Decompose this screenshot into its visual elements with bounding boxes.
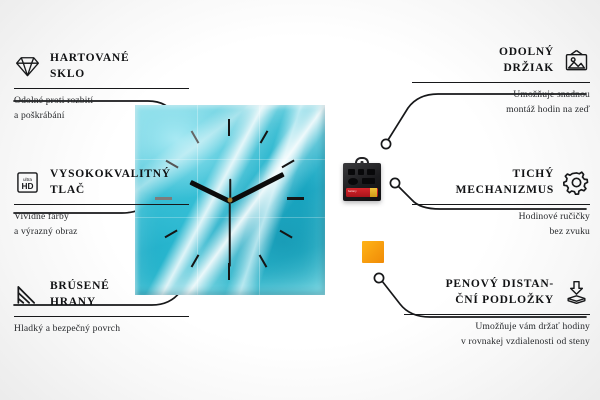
feature-title-line: ČNÍ PODLOŽKY <box>446 292 554 308</box>
feature-block-silent-mechanism: TICHÝ MECHANIZMUS Hodinové ručičky bez z… <box>412 166 590 239</box>
feature-subtitle-line: v rovnakej vzdialenosti od steny <box>404 335 590 349</box>
gear-icon <box>563 170 590 195</box>
feature-subtitle: Umožňuje vám držať hodiny v rovnakej vzd… <box>404 320 590 349</box>
feature-subtitle: Vivídne farby a výrazný obraz <box>14 210 189 239</box>
clock-hour-hand <box>189 180 231 204</box>
feature-title: ODOLNÝ DRŽIAK <box>499 44 554 77</box>
ultra-hd-icon: ultra HD <box>14 170 41 195</box>
arrow-down-stack-icon <box>563 280 590 305</box>
diamond-icon <box>14 54 41 79</box>
feature-title-line: SKLO <box>50 66 129 82</box>
feature-block-tempered-glass: HARTOVANÉ SKLO Odolné proti rozbití a po… <box>14 50 189 123</box>
clock-hand-pivot <box>228 198 233 203</box>
feature-divider <box>412 82 590 84</box>
clock-tick <box>228 119 230 136</box>
feature-title-line: HRANY <box>50 294 110 310</box>
feature-subtitle-line: a výrazný obraz <box>14 225 189 239</box>
clock-tick <box>191 254 200 267</box>
infographic-stage: battery HARTOVANÉ SKLO Odolné pro <box>0 0 600 400</box>
ground-edges-icon <box>14 282 41 307</box>
feature-header: HARTOVANÉ SKLO <box>14 50 189 83</box>
feature-subtitle-line: bez zvuku <box>412 225 590 239</box>
feature-header: PENOVÝ DISTAN- ČNÍ PODLOŽKY <box>404 276 590 309</box>
clock-tick <box>259 254 268 267</box>
feature-subtitle-line: a poškrábání <box>14 109 189 123</box>
feature-divider <box>14 88 189 90</box>
mechanism-detail <box>362 178 375 184</box>
feature-title-line: TICHÝ <box>456 166 554 182</box>
feature-subtitle: Hladký a bezpečný povrch <box>14 322 189 336</box>
feature-divider <box>14 204 189 206</box>
svg-text:HD: HD <box>21 181 33 191</box>
mechanism-body: battery <box>343 163 381 201</box>
mechanism-detail <box>348 169 355 175</box>
battery-label: battery <box>348 190 357 193</box>
feature-title-line: PENOVÝ DISTAN- <box>446 276 554 292</box>
clock-tick <box>279 230 292 239</box>
feature-title-line: BRÚSENÉ <box>50 278 110 294</box>
feature-title-line: VYSOKOKVALITNÝ <box>50 166 171 182</box>
feature-block-durable-holder: ODOLNÝ DRŽIAK Umožňuje snadnou montáž ho… <box>412 44 590 117</box>
clock-tick <box>191 130 200 143</box>
feature-title-line: ODOLNÝ <box>499 44 554 60</box>
feature-header: BRÚSENÉ HRANY <box>14 278 189 311</box>
feature-subtitle-line: Odolné proti rozbití <box>14 94 189 108</box>
mechanism-detail <box>367 169 375 175</box>
feature-block-foam-spacers: PENOVÝ DISTAN- ČNÍ PODLOŽKY Umožňuje vám… <box>404 276 590 349</box>
feature-title: TICHÝ MECHANIZMUS <box>456 166 554 199</box>
clock-minute-hand <box>229 172 285 203</box>
clock-second-hand <box>229 201 231 267</box>
mechanism-battery: battery <box>346 188 378 197</box>
clock-tick <box>287 197 304 200</box>
feature-title: HARTOVANÉ SKLO <box>50 50 129 83</box>
mechanism-detail <box>358 169 364 175</box>
feature-divider <box>412 204 590 206</box>
feature-divider <box>404 314 590 316</box>
feature-title: BRÚSENÉ HRANY <box>50 278 110 311</box>
clock-mechanism-part: battery <box>343 163 381 201</box>
feature-subtitle: Odolné proti rozbití a poškrábání <box>14 94 189 123</box>
feature-header: ODOLNÝ DRŽIAK <box>412 44 590 77</box>
connector-node-silent-mechanism <box>390 178 399 187</box>
mechanism-detail <box>348 178 358 185</box>
feature-subtitle: Umožňuje snadnou montáž hodin na zeď <box>412 88 590 117</box>
feature-subtitle-line: Hodinové ručičky <box>412 210 590 224</box>
feature-subtitle-line: Vivídne farby <box>14 210 189 224</box>
feature-header: ultra HD VYSOKOKVALITNÝ TLAČ <box>14 166 189 199</box>
battery-positive-terminal <box>370 188 377 197</box>
feature-block-high-quality-print: ultra HD VYSOKOKVALITNÝ TLAČ Vivídne far… <box>14 166 189 239</box>
feature-subtitle-line: Umožňuje snadnou <box>412 88 590 102</box>
feature-title-line: HARTOVANÉ <box>50 50 129 66</box>
clock-tick <box>281 160 294 169</box>
picture-frame-hanger-icon <box>563 48 590 73</box>
feature-subtitle-line: montáž hodin na zeď <box>412 103 590 117</box>
feature-block-ground-edges: BRÚSENÉ HRANY Hladký a bezpečný povrch <box>14 278 189 337</box>
connector-node-foam-spacers <box>374 273 383 282</box>
feature-divider <box>14 316 189 318</box>
connector-node-durable-holder <box>381 139 390 148</box>
feature-title: VYSOKOKVALITNÝ TLAČ <box>50 166 171 199</box>
feature-subtitle-line: Umožňuje vám držať hodiny <box>404 320 590 334</box>
foam-spacer-part <box>362 241 384 263</box>
feature-subtitle: Hodinové ručičky bez zvuku <box>412 210 590 239</box>
feature-title: PENOVÝ DISTAN- ČNÍ PODLOŽKY <box>446 276 554 309</box>
feature-title-line: DRŽIAK <box>499 60 554 76</box>
foam-spacer-pad <box>362 241 384 263</box>
feature-title-line: MECHANIZMUS <box>456 182 554 198</box>
feature-subtitle-line: Hladký a bezpečný povrch <box>14 322 189 336</box>
feature-header: TICHÝ MECHANIZMUS <box>412 166 590 199</box>
clock-tick <box>260 130 269 143</box>
feature-title-line: TLAČ <box>50 182 171 198</box>
